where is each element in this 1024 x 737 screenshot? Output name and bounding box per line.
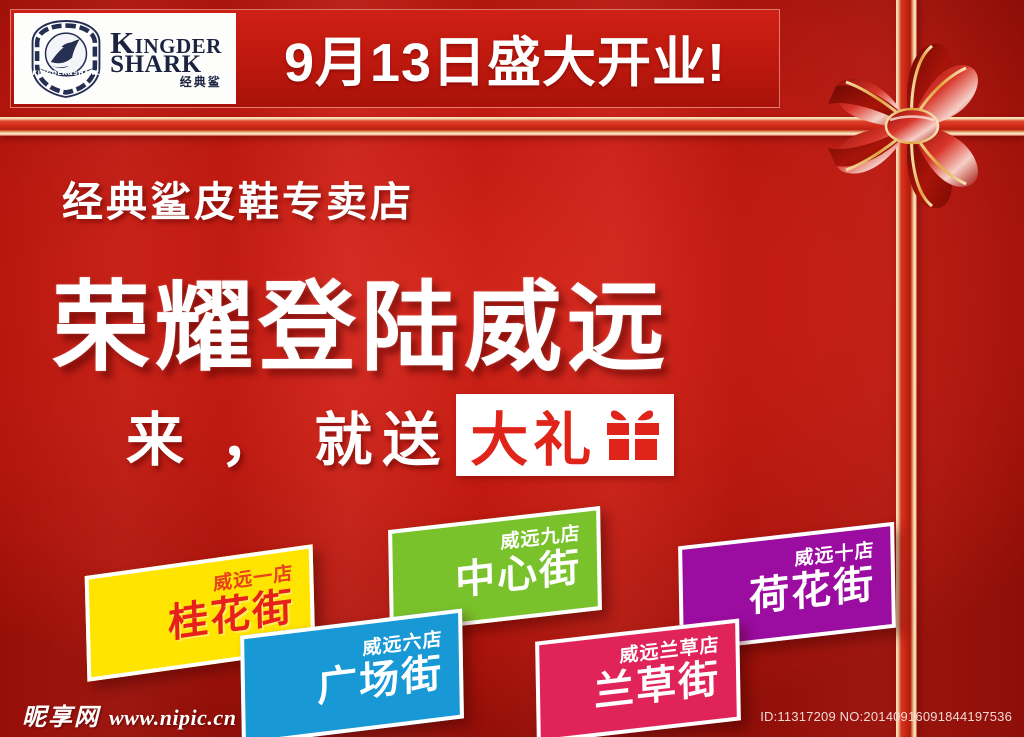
watermark-url: www.nipic.cn	[109, 705, 236, 731]
promo-poster: KINGDER&SHARK KINGDER SHARK 经典鲨 9月13日盛大开…	[0, 0, 1024, 737]
store-tag-street: 荷花街	[749, 563, 876, 620]
store-tag-street: 兰草街	[594, 658, 721, 715]
store-subtitle: 经典鲨皮鞋专卖店	[62, 168, 414, 228]
svg-text:KINGDER&SHARK: KINGDER&SHARK	[32, 68, 100, 76]
ribbon-bow-icon	[806, 8, 1024, 240]
gift-highlight-box: 大礼	[456, 394, 674, 476]
gift-box-icon	[602, 406, 664, 464]
brand-logo-box: KINGDER&SHARK KINGDER SHARK 经典鲨	[14, 13, 236, 104]
brand-line-2: SHARK	[110, 53, 201, 76]
gift-highlight-text: 大礼	[470, 393, 596, 477]
brand-wordmark: KINGDER SHARK 经典鲨	[110, 29, 222, 89]
site-watermark: 昵享网 www.nipic.cn	[22, 697, 236, 732]
top-banner: KINGDER&SHARK KINGDER SHARK 经典鲨 9月13日盛大开…	[10, 9, 780, 108]
gift-prefix-text: 来 ， 就送	[126, 393, 450, 477]
brand-chinese-name: 经典鲨	[180, 77, 222, 88]
store-tag-street: 广场街	[317, 652, 444, 711]
image-id-text: ID:11317209 NO:20140916091844197536	[760, 709, 1012, 724]
gift-promise-line: 来 ， 就送 大礼	[126, 392, 674, 478]
watermark-chinese: 昵享网	[22, 697, 100, 732]
store-tag-street: 中心街	[455, 547, 582, 604]
main-headline: 荣耀登陆威远	[52, 248, 670, 390]
shark-crest-icon: KINGDER&SHARK	[28, 19, 104, 99]
opening-date-headline: 9月13日盛大开业!	[239, 9, 779, 106]
store-tag-lancao[interactable]: 威远兰草店 兰草街	[535, 618, 741, 737]
